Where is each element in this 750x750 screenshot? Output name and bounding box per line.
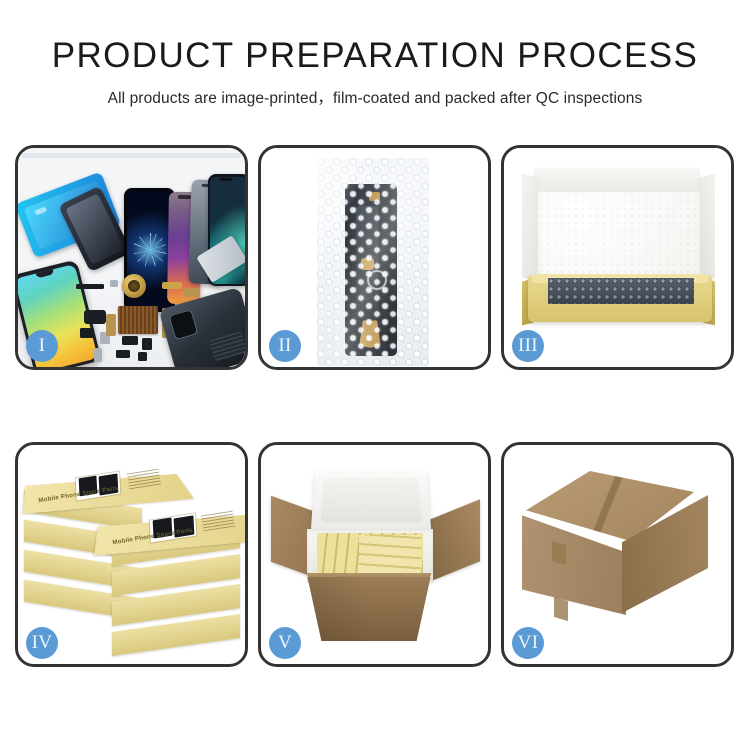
- styrofoam-lid-icon: [311, 470, 432, 533]
- process-step-panel-3[interactable]: III: [501, 145, 734, 370]
- page-title: PRODUCT PREPARATION PROCESS: [0, 38, 750, 75]
- carton-tape-icon: [552, 541, 566, 565]
- step-badge-2: II: [269, 330, 301, 362]
- process-step-panel-5[interactable]: V: [258, 442, 491, 667]
- step-badge-3: III: [512, 330, 544, 362]
- plastic-sheen: [317, 158, 429, 366]
- process-step-grid: I II: [15, 145, 735, 677]
- step-badge-1: I: [26, 330, 58, 362]
- bubble-wrapped-items-icon: [548, 278, 694, 304]
- retail-box-stack-icon: Mobile Phone Spare Parts Mobile Phone Sp…: [24, 461, 244, 661]
- step-badge-5: V: [269, 627, 301, 659]
- ic-chip-icon: [118, 306, 158, 334]
- yellow-boxes-row-icon: [359, 535, 421, 573]
- step-badge-4: IV: [26, 627, 58, 659]
- carton-tape-icon: [554, 597, 568, 621]
- carton-body-icon: [299, 577, 439, 641]
- process-step-panel-1[interactable]: I: [15, 145, 248, 370]
- page-header: PRODUCT PREPARATION PROCESS All products…: [0, 0, 750, 108]
- foam-sheet-icon: [538, 192, 700, 282]
- process-step-panel-4[interactable]: Mobile Phone Spare Parts Mobile Phone Sp…: [15, 442, 248, 667]
- process-step-panel-6[interactable]: VI: [501, 442, 734, 667]
- page-subtitle: All products are image-printed，film-coat…: [0, 86, 750, 108]
- step-badge-6: VI: [512, 627, 544, 659]
- process-step-panel-2[interactable]: II: [258, 145, 491, 370]
- speaker-coil-icon: [122, 274, 146, 298]
- bubble-wrap-bag-icon: [317, 158, 429, 366]
